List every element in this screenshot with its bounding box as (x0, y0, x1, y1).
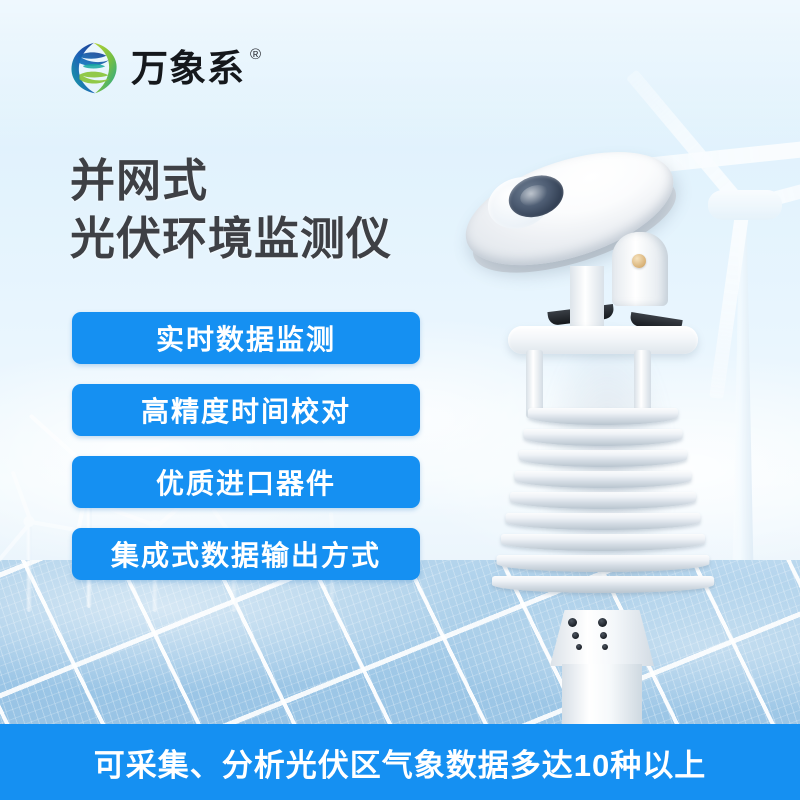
louver-plate (497, 555, 710, 572)
turbine-mast (26, 520, 31, 612)
brand-name-text: 万象系 (131, 48, 245, 89)
vented-base-housing (550, 610, 654, 666)
headline-line-2: 光伏环境监测仪 (70, 210, 392, 268)
feature-label: 优质进口器件 (156, 462, 336, 502)
vent-hole-icon (572, 632, 579, 639)
louvered-radiation-shield (488, 408, 718, 618)
feature-pill-3: 优质进口器件 (72, 456, 420, 508)
feature-label: 集成式数据输出方式 (111, 534, 381, 574)
louver-plate (515, 471, 692, 488)
pivot-bracket (612, 232, 668, 306)
product-image (452, 140, 752, 720)
feature-label: 高精度时间校对 (141, 390, 351, 430)
vent-hole-icon (576, 644, 582, 650)
feature-list: 实时数据监测 高精度时间校对 优质进口器件 集成式数据输出方式 (72, 312, 420, 600)
louver-plate (510, 492, 696, 509)
brand-name: 万象系 ® (131, 50, 245, 87)
feature-pill-2: 高精度时间校对 (72, 384, 420, 436)
bottom-banner: 可采集、分析光伏区气象数据多达10种以上 (0, 724, 800, 800)
louver-plate (506, 513, 701, 530)
louver-plate (528, 408, 678, 425)
vent-hole-icon (598, 618, 607, 627)
vent-hole-icon (602, 644, 608, 650)
louver-plate (501, 534, 705, 551)
trademark-symbol: ® (250, 47, 262, 62)
wind-turbine-small (26, 520, 31, 612)
bottom-banner-text: 可采集、分析光伏区气象数据多达10种以上 (94, 740, 706, 785)
vent-hole-icon (600, 632, 607, 639)
globe-swirl-logo-icon (66, 40, 122, 96)
louver-plate (519, 450, 687, 467)
marketing-banner: 万象系 ® 并网式 光伏环境监测仪 实时数据监测 高精度时间校对 优质进口器件 … (0, 0, 800, 800)
louver-plate (524, 429, 683, 446)
headline-line-1: 并网式 (70, 152, 392, 210)
feature-pill-1: 实时数据监测 (72, 312, 420, 364)
feature-label: 实时数据监测 (156, 318, 336, 358)
louver-plate (492, 576, 714, 593)
bracket-stem (570, 266, 604, 328)
bracket-bolt-icon (632, 254, 646, 268)
feature-pill-4: 集成式数据输出方式 (72, 528, 420, 580)
page-title: 并网式 光伏环境监测仪 (70, 152, 392, 267)
brand-logo: 万象系 ® (66, 40, 245, 96)
vent-hole-icon (568, 618, 577, 627)
